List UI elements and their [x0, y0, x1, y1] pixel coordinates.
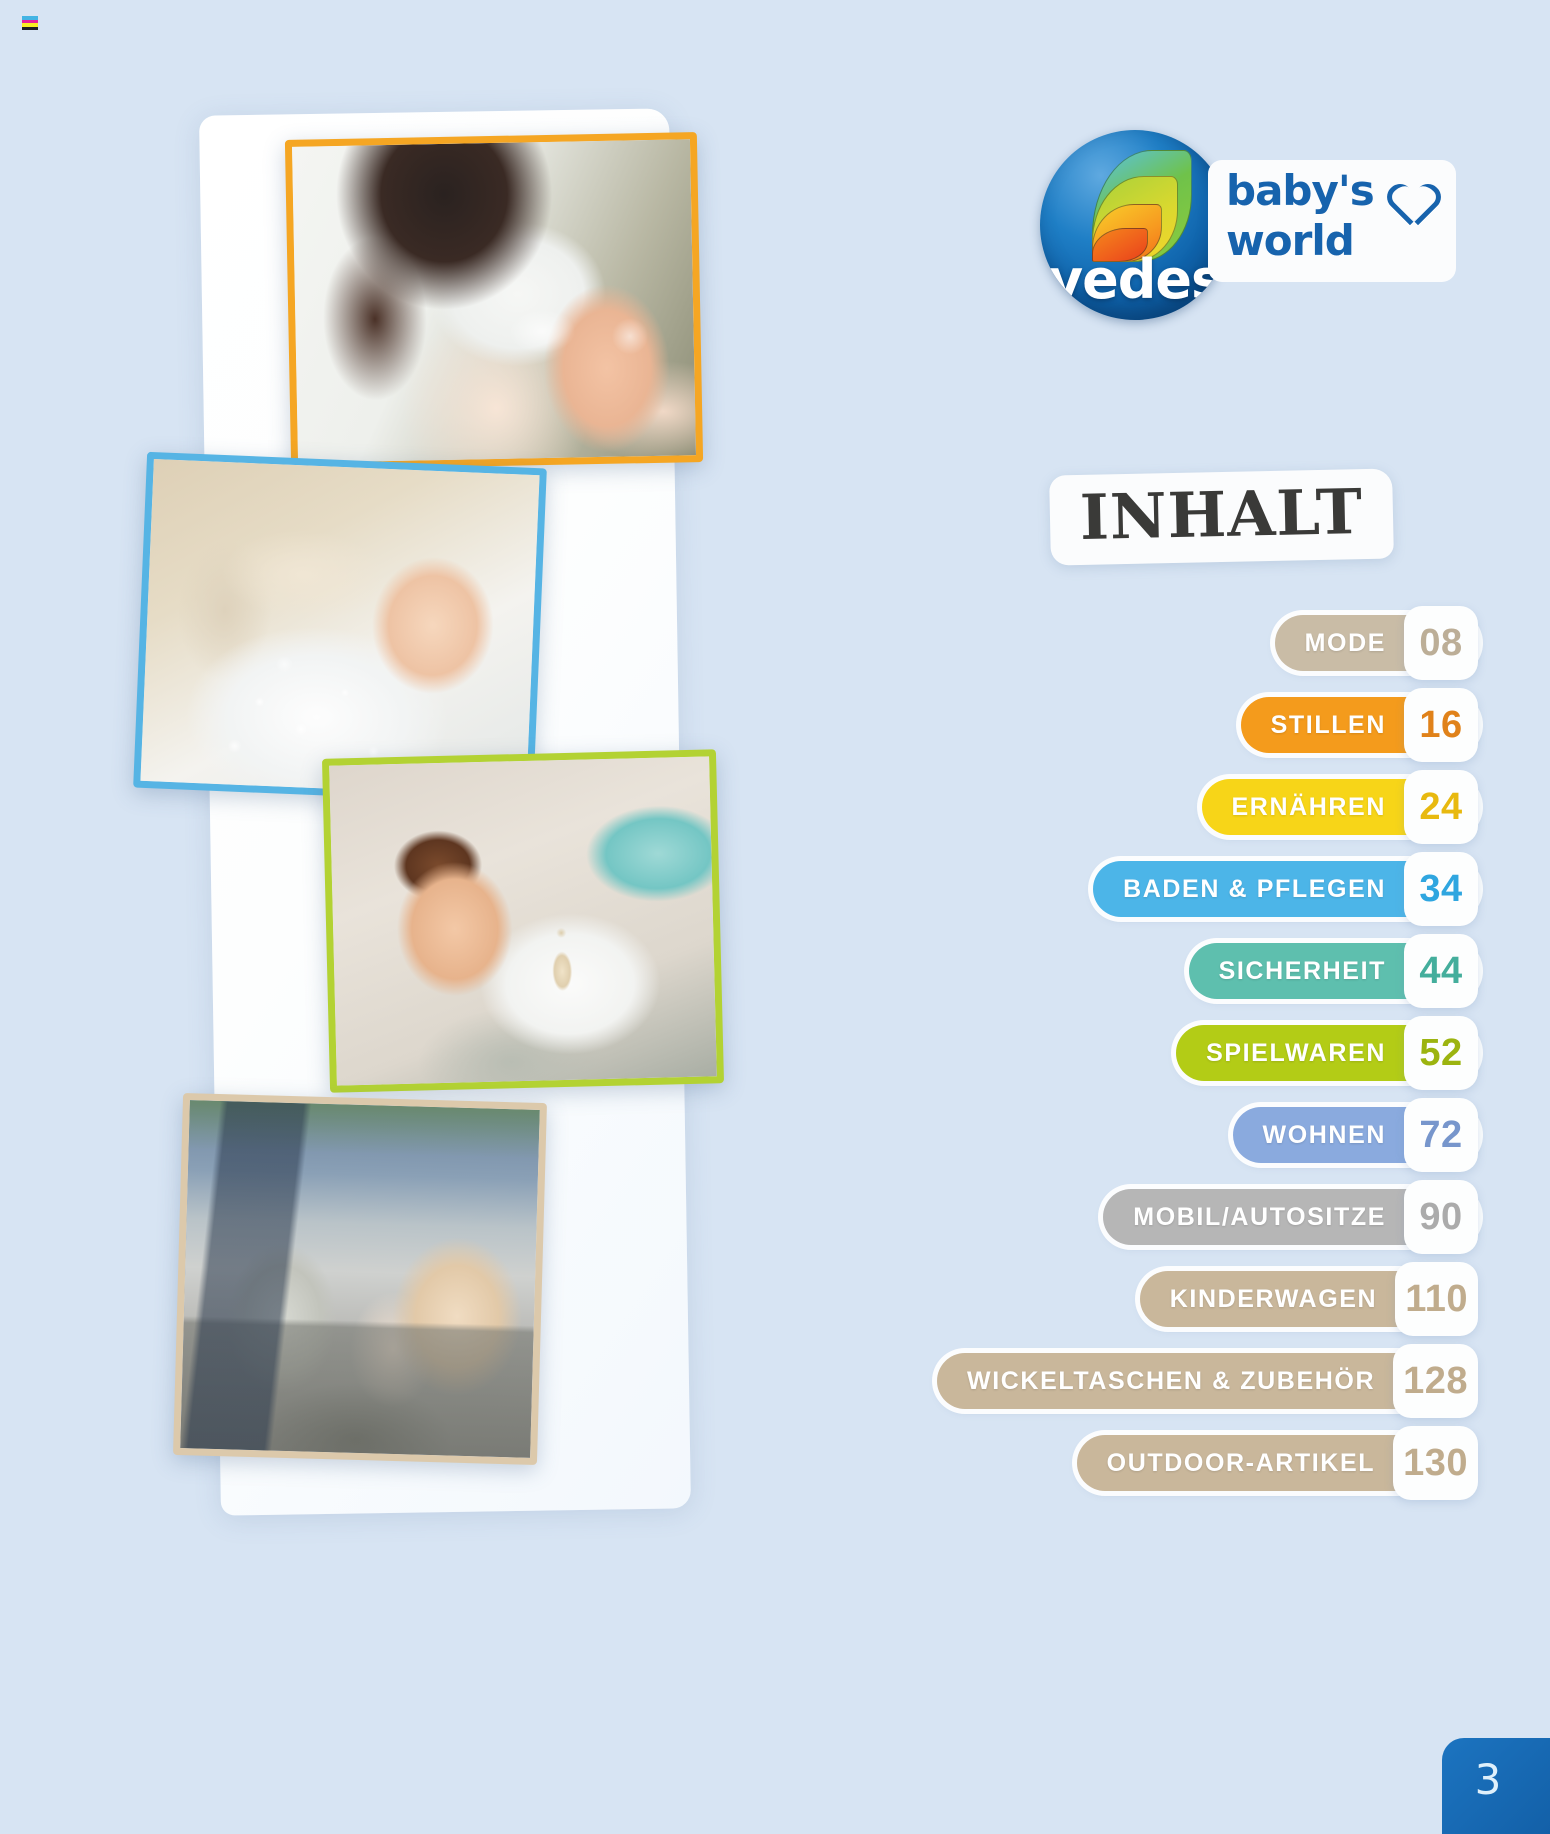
toc-page-number[interactable]: 34: [1404, 852, 1478, 926]
toc-page-number[interactable]: 08: [1404, 606, 1478, 680]
toc-label: MODE: [1305, 629, 1386, 658]
photo-1-image: [292, 139, 696, 463]
babys-world-text: baby's world: [1226, 166, 1374, 266]
photo-2-image: [140, 459, 539, 797]
toc-page-number[interactable]: 24: [1404, 770, 1478, 844]
toc-page-number-text: 90: [1419, 1196, 1462, 1239]
toc-row[interactable]: SICHERHEIT44: [830, 930, 1550, 1012]
brand-logo: vedes baby's world: [1040, 122, 1460, 322]
page-number-tab: 3: [1442, 1738, 1550, 1834]
toc-page-number[interactable]: 16: [1404, 688, 1478, 762]
toc-row[interactable]: ERNÄHREN24: [830, 766, 1550, 848]
toc-page-number-text: 128: [1403, 1360, 1468, 1403]
toc-page-number-text: 08: [1419, 622, 1462, 665]
toc-label: STILLEN: [1271, 711, 1386, 740]
photo-baby-in-bubble-bath: [133, 452, 547, 804]
toc-page-number-text: 130: [1403, 1442, 1468, 1485]
toc-label: MOBIL/AUTOSITZE: [1133, 1203, 1386, 1232]
toc-page-number-text: 16: [1419, 704, 1462, 747]
babys-world-line1: baby's: [1226, 166, 1374, 216]
photo-3-image: [329, 756, 717, 1085]
vedes-wordmark: vedes: [1040, 248, 1230, 311]
toc-label: OUTDOOR-ARTIKEL: [1107, 1449, 1375, 1478]
babys-world-line2: world: [1226, 216, 1374, 266]
toc-page-number[interactable]: 72: [1404, 1098, 1478, 1172]
heart-icon: [1390, 176, 1442, 224]
toc-row[interactable]: MODE08: [830, 602, 1550, 684]
toc-page-number-text: 110: [1405, 1278, 1468, 1321]
toc-page-number[interactable]: 110: [1395, 1262, 1478, 1336]
toc-page-number[interactable]: 44: [1404, 934, 1478, 1008]
toc-page-number[interactable]: 128: [1393, 1344, 1478, 1418]
photo-baby-with-giraffe-toy: [322, 749, 724, 1093]
toc-label: WOHNEN: [1263, 1121, 1386, 1150]
toc-page-number-text: 34: [1419, 868, 1462, 911]
page-title-label: INHALT: [1049, 468, 1394, 565]
toc-page-number-text: 52: [1419, 1032, 1462, 1075]
toc-row[interactable]: BADEN & PFLEGEN34: [830, 848, 1550, 930]
photo-4-image: [180, 1100, 540, 1458]
toc-page-number-text: 72: [1419, 1114, 1462, 1157]
photo-collage: [0, 0, 860, 1834]
toc-label-pill[interactable]: WICKELTASCHEN & ZUBEHÖR: [937, 1353, 1467, 1409]
page-title: INHALT: [1079, 479, 1363, 551]
toc-page-number-text: 44: [1419, 950, 1462, 993]
toc-label: SICHERHEIT: [1219, 957, 1386, 986]
toc-page-number[interactable]: 90: [1404, 1180, 1478, 1254]
page-number: 3: [1475, 1755, 1502, 1804]
toc-row[interactable]: WICKELTASCHEN & ZUBEHÖR128: [830, 1340, 1550, 1422]
babys-world-badge: baby's world: [1208, 160, 1456, 282]
toc-label: WICKELTASCHEN & ZUBEHÖR: [967, 1367, 1375, 1396]
toc-page-number-text: 24: [1419, 786, 1462, 829]
vedes-globe-icon: vedes: [1040, 130, 1230, 320]
photo-mother-baby-stroller-outdoors: [173, 1093, 547, 1465]
toc-label: BADEN & PFLEGEN: [1123, 875, 1386, 904]
photo-mother-bottle-feeding-baby: [285, 132, 703, 470]
toc-label: ERNÄHREN: [1232, 793, 1386, 822]
toc-row[interactable]: OUTDOOR-ARTIKEL130: [830, 1422, 1550, 1504]
toc-row[interactable]: WOHNEN72: [830, 1094, 1550, 1176]
toc-page-number[interactable]: 130: [1393, 1426, 1478, 1500]
table-of-contents: MODE08STILLEN16ERNÄHREN24BADEN & PFLEGEN…: [830, 602, 1550, 1504]
toc-row[interactable]: MOBIL/AUTOSITZE90: [830, 1176, 1550, 1258]
toc-row[interactable]: SPIELWAREN52: [830, 1012, 1550, 1094]
toc-label: SPIELWAREN: [1206, 1039, 1386, 1068]
toc-page-number[interactable]: 52: [1404, 1016, 1478, 1090]
toc-label: KINDERWAGEN: [1170, 1285, 1377, 1314]
toc-row[interactable]: KINDERWAGEN110: [830, 1258, 1550, 1340]
sail-icon: [1092, 144, 1196, 262]
toc-row[interactable]: STILLEN16: [830, 684, 1550, 766]
content-column: vedes baby's world INHALT MODE08STILLEN1…: [830, 0, 1550, 1834]
